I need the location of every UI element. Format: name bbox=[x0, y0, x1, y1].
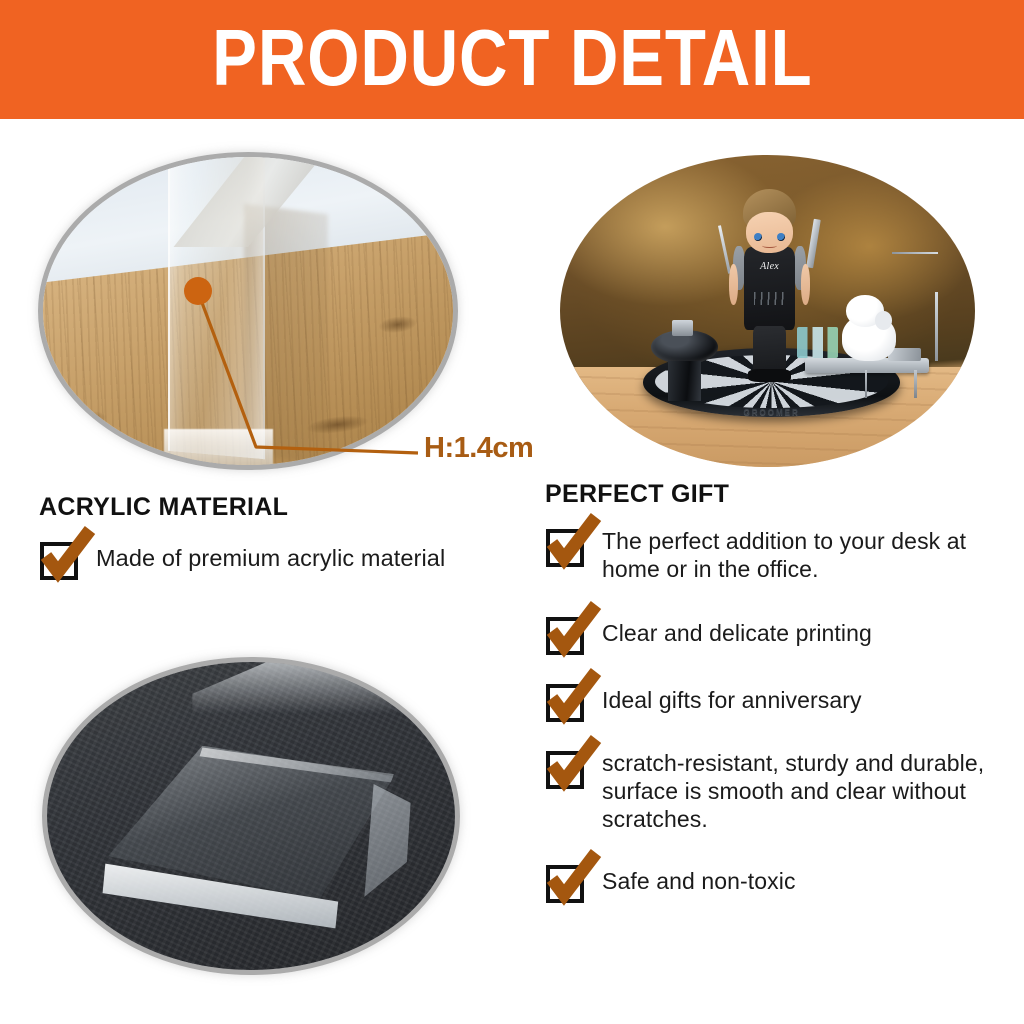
table-leg bbox=[865, 370, 868, 398]
section-heading-acrylic-material: ACRYLIC MATERIAL bbox=[39, 493, 288, 522]
acrylic-block-photo bbox=[42, 657, 460, 975]
list-item: Made of premium acrylic material bbox=[40, 540, 510, 580]
apron: Alex bbox=[744, 247, 795, 329]
face bbox=[746, 212, 793, 253]
feature-list-perfect-gift: The perfect addition to your desk at hom… bbox=[546, 527, 1001, 930]
table-support-arm-top bbox=[892, 252, 938, 255]
page-title: PRODUCT DETAIL bbox=[212, 18, 812, 102]
slate-surface bbox=[42, 657, 460, 975]
checkbox-checked-icon bbox=[546, 684, 584, 722]
header-banner: PRODUCT DETAIL bbox=[0, 0, 1024, 119]
table-support-arm bbox=[935, 292, 938, 361]
list-item: Ideal gifts for anniversary bbox=[546, 682, 1001, 722]
poodle-ear bbox=[875, 311, 892, 330]
faucet-icon bbox=[672, 320, 693, 336]
acrylic-edge-photo bbox=[38, 152, 458, 470]
product-scene-photo: GROOMER Alex bbox=[560, 155, 975, 467]
list-item-label: Made of premium acrylic material bbox=[96, 540, 445, 573]
list-item-label: scratch-resistant, sturdy and durable, s… bbox=[602, 749, 1001, 833]
checkbox-checked-icon bbox=[546, 865, 584, 903]
list-item: Safe and non-toxic bbox=[546, 863, 1001, 903]
acrylic-block-base-glow bbox=[164, 429, 274, 467]
acrylic-edge-scene bbox=[38, 152, 458, 470]
eye-right bbox=[777, 233, 785, 241]
groomer-figure: Alex bbox=[734, 189, 805, 376]
feature-list-acrylic-material: Made of premium acrylic material bbox=[40, 540, 510, 580]
list-item: Clear and delicate printing bbox=[546, 615, 1001, 655]
checkbox-checked-icon bbox=[546, 617, 584, 655]
product-detail-infographic: PRODUCT DETAIL GROOMER bbox=[0, 0, 1024, 1024]
smile bbox=[762, 243, 778, 248]
shoe-right bbox=[755, 369, 790, 382]
apron-pocket-tools bbox=[754, 292, 784, 305]
list-item: The perfect addition to your desk at hom… bbox=[546, 527, 1001, 583]
arm-left bbox=[729, 264, 738, 305]
apron-name-text: Alex bbox=[744, 261, 795, 272]
checkbox-checked-icon bbox=[40, 542, 78, 580]
wash-basin-stem bbox=[668, 361, 701, 402]
checkbox-checked-icon bbox=[546, 529, 584, 567]
list-item-label: Safe and non-toxic bbox=[602, 863, 796, 895]
eye-left bbox=[754, 233, 762, 241]
checkbox-checked-icon bbox=[546, 751, 584, 789]
base-engraving-text: GROOMER bbox=[718, 408, 826, 417]
slate-edge-highlight bbox=[192, 657, 444, 714]
table-leg bbox=[914, 370, 917, 398]
list-item-label: Clear and delicate printing bbox=[602, 615, 872, 647]
section-heading-perfect-gift: PERFECT GIFT bbox=[545, 480, 729, 509]
list-item-label: Ideal gifts for anniversary bbox=[602, 682, 862, 714]
list-item: scratch-resistant, sturdy and durable, s… bbox=[546, 749, 1001, 833]
list-item-label: The perfect addition to your desk at hom… bbox=[602, 527, 1001, 583]
callout-label: H:1.4cm bbox=[424, 432, 533, 465]
